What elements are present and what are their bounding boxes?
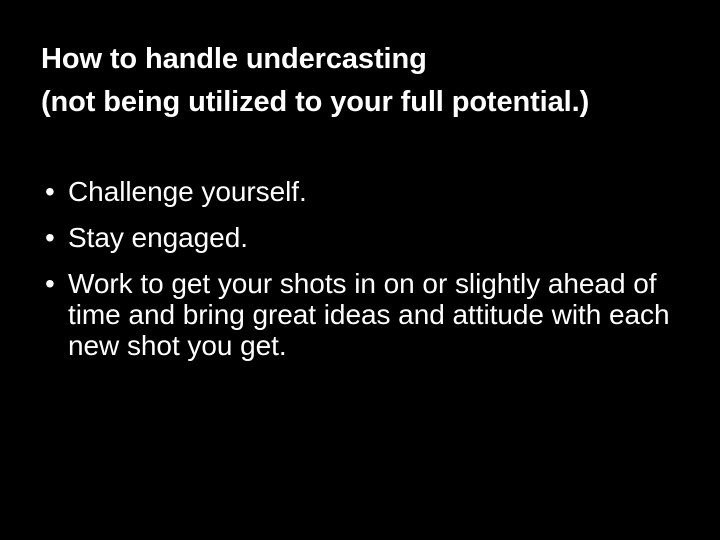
list-item: • Stay engaged.: [41, 222, 689, 253]
slide-bullet-list: • Challenge yourself. • Stay engaged. • …: [41, 176, 689, 361]
bullet-marker-icon: •: [45, 222, 65, 253]
bullet-marker-icon: •: [45, 268, 65, 299]
list-item: • Challenge yourself.: [41, 176, 689, 207]
list-item: • Work to get your shots in on or slight…: [41, 268, 689, 361]
slide-title: How to handle undercasting (not being ut…: [41, 38, 691, 124]
list-item-label: Stay engaged.: [68, 222, 689, 253]
title-line-2: (not being utilized to your full potenti…: [41, 81, 691, 124]
title-line-1: How to handle undercasting: [41, 38, 691, 81]
list-item-label: Challenge yourself.: [68, 176, 689, 207]
bullet-marker-icon: •: [45, 176, 65, 207]
list-item-label: Work to get your shots in on or slightly…: [68, 268, 689, 361]
presentation-slide: How to handle undercasting (not being ut…: [0, 0, 720, 540]
